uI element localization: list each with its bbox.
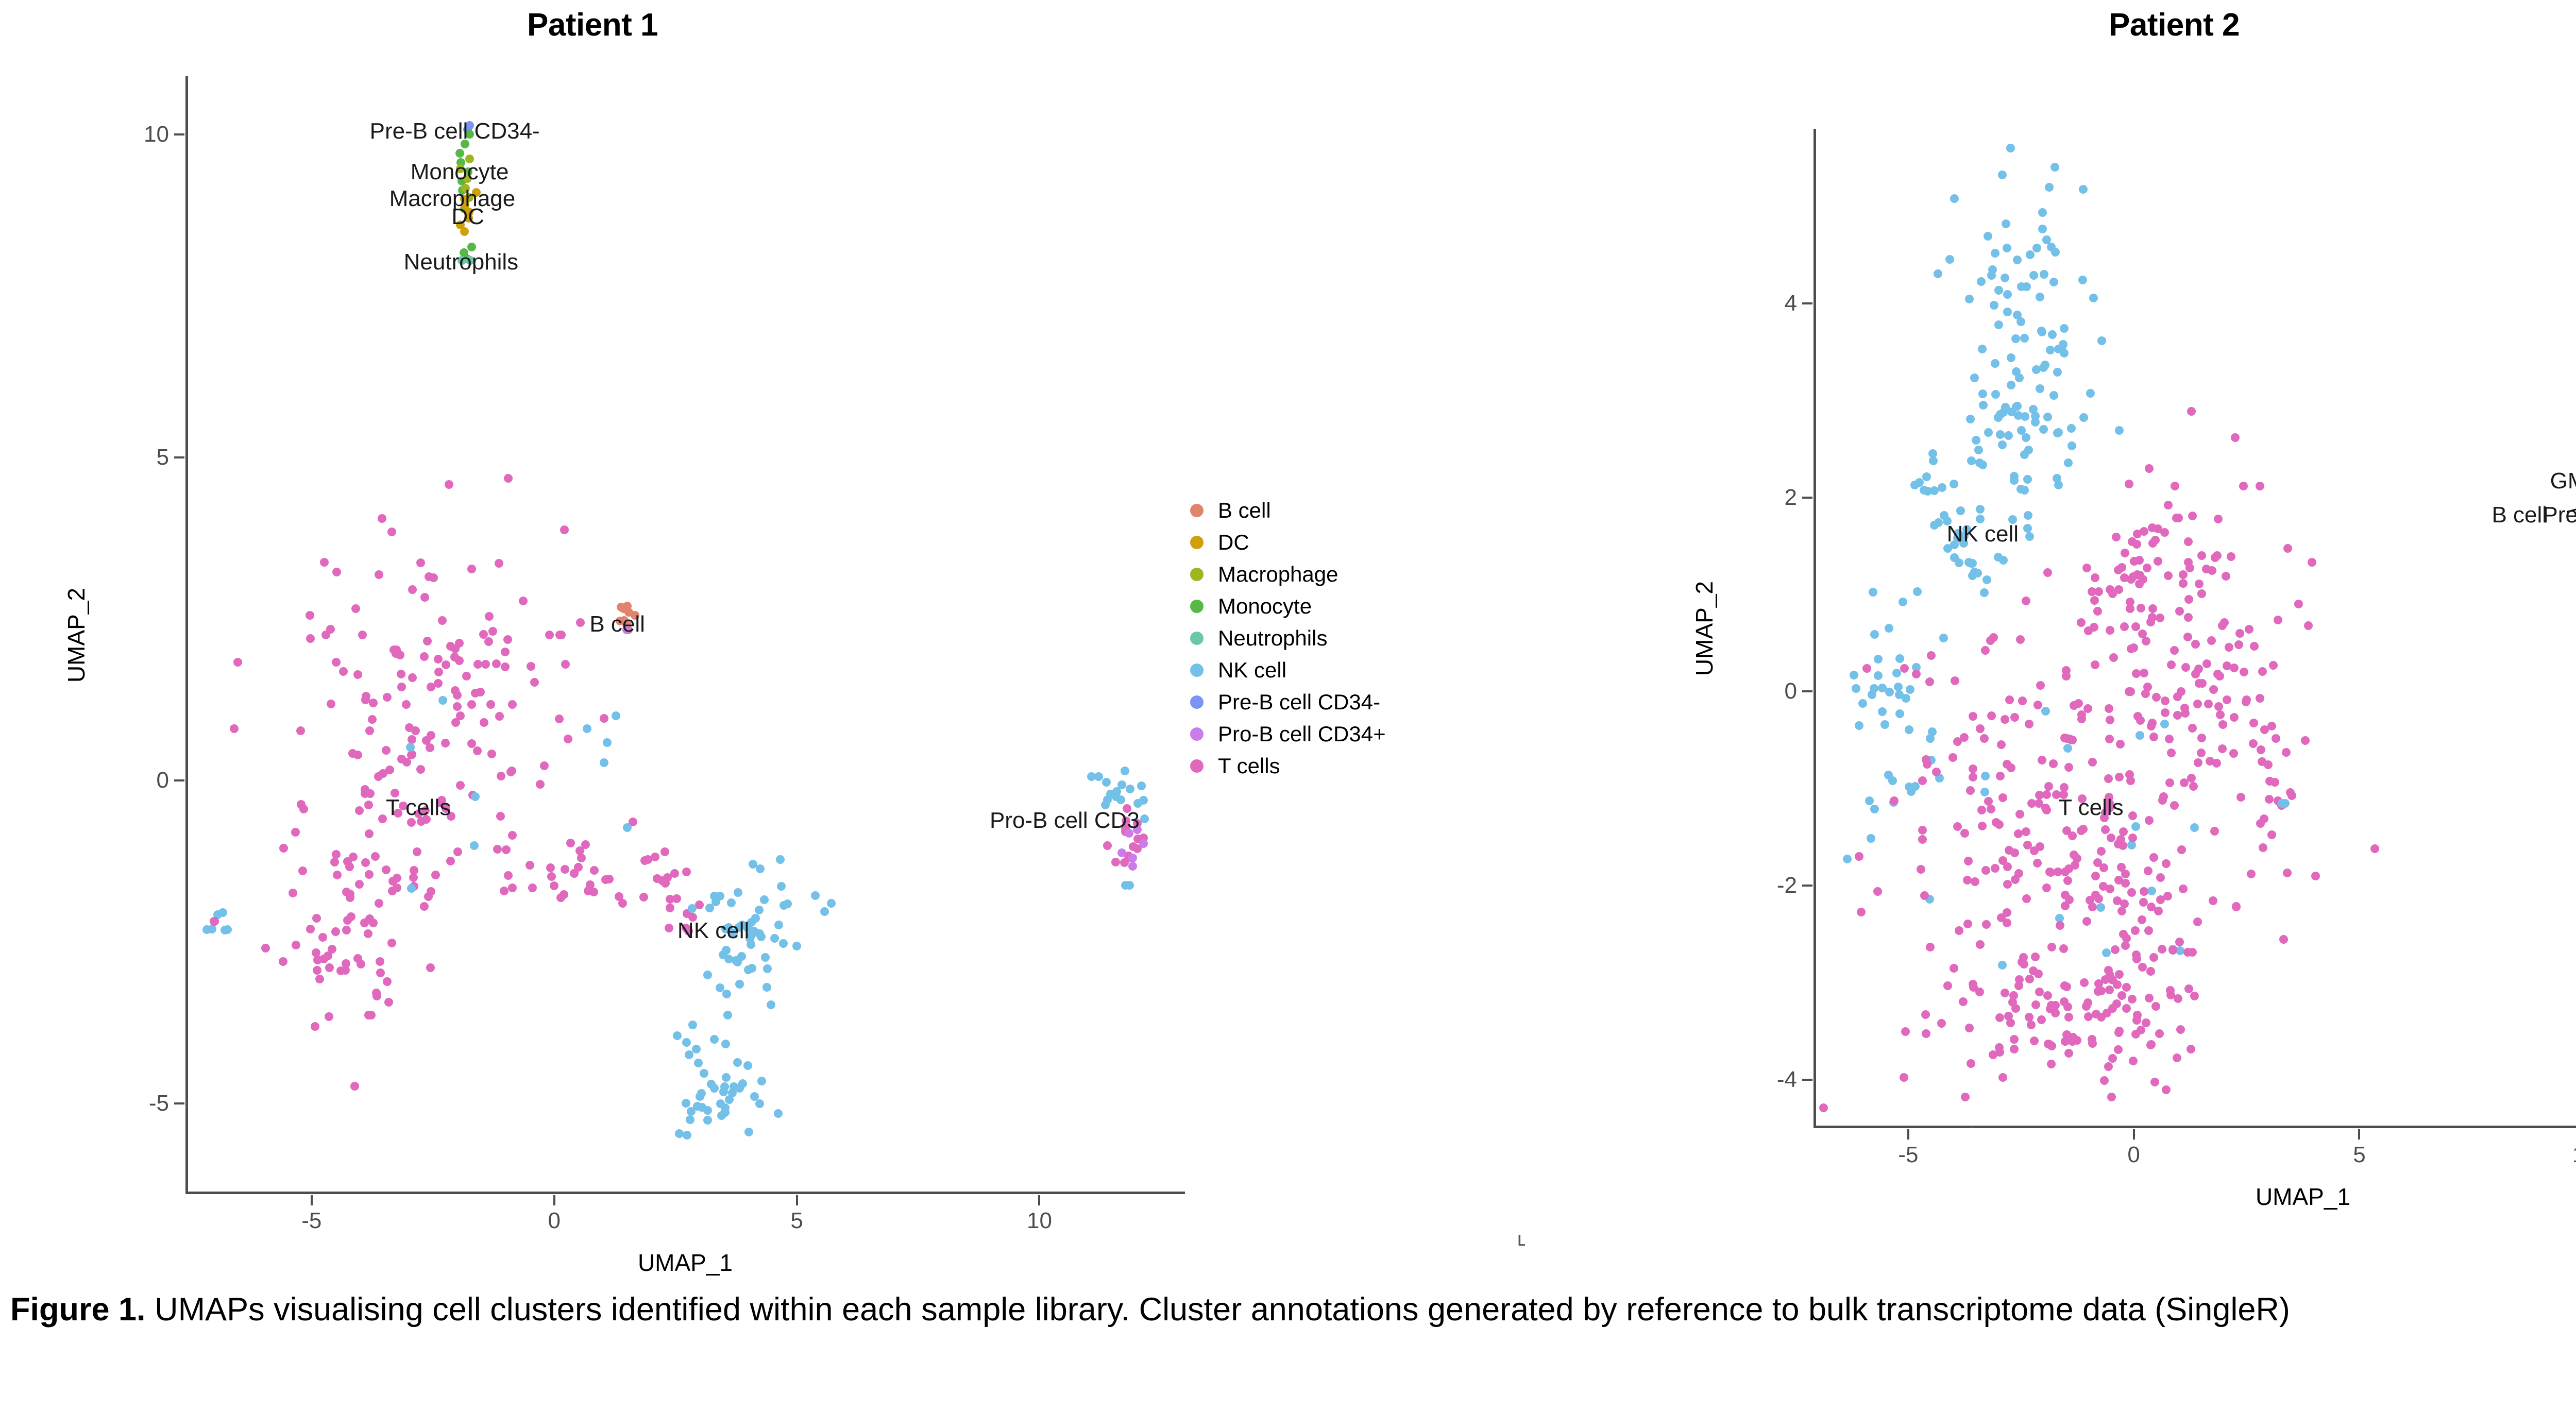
scatter-point [2059, 944, 2068, 953]
scatter-point [2163, 892, 2172, 900]
scatter-point [368, 715, 377, 724]
scatter-point [2136, 731, 2144, 740]
scatter-point [776, 855, 785, 864]
scatter-point [2155, 1029, 2164, 1038]
scatter-point [2064, 458, 2073, 467]
scatter-point [1950, 964, 1958, 973]
scatter-point [2001, 715, 2009, 724]
scatter-point [426, 963, 435, 972]
scatter-point [384, 998, 393, 1007]
scatter-point [467, 700, 476, 709]
y-tick-label: 0 [1785, 680, 1797, 703]
scatter-point [441, 739, 450, 747]
scatter-point [1862, 664, 1871, 673]
scatter-point [1930, 486, 1939, 495]
scatter-point [2184, 595, 2193, 604]
scatter-point [2027, 799, 2036, 808]
scatter-point [2161, 696, 2170, 705]
scatter-point [2064, 1013, 2073, 1022]
scatter-point [2184, 537, 2193, 546]
scatter-point [471, 792, 480, 801]
scatter-point [1955, 926, 1963, 935]
caption-label: Figure 1. [10, 1291, 146, 1328]
scatter-point [2189, 782, 2198, 791]
scatter-point [762, 983, 771, 992]
x-tick-mark [553, 1195, 555, 1205]
scatter-point [501, 662, 510, 671]
scatter-point [2030, 1036, 2039, 1045]
scatter-point [2179, 885, 2188, 893]
scatter-point [1991, 249, 1999, 258]
scatter-point [405, 723, 414, 732]
scatter-point [2045, 183, 2054, 192]
scatter-point [2208, 566, 2216, 575]
cluster-label: B cell [2492, 504, 2547, 526]
scatter-point [202, 925, 211, 934]
scatter-point [697, 1089, 706, 1098]
legend-item[interactable]: B cell [1190, 495, 1386, 526]
scatter-point [420, 902, 429, 911]
scatter-point [2304, 621, 2313, 630]
scatter-point [2121, 879, 2130, 888]
scatter-point [1923, 760, 1931, 769]
scatter-point [1976, 724, 1985, 733]
scatter-point [827, 899, 836, 908]
scatter-point [467, 565, 476, 573]
scatter-point [382, 746, 391, 755]
scatter-point [2049, 391, 2058, 400]
scatter-point [2010, 848, 2019, 857]
scatter-point [2022, 827, 2030, 836]
scatter-point [408, 585, 417, 594]
scatter-point [1129, 842, 1138, 851]
scatter-point [2128, 834, 2137, 842]
scatter-point [1905, 725, 1913, 734]
scatter-point [1870, 684, 1878, 693]
scatter-point [2025, 532, 2034, 541]
scatter-point [2036, 842, 2044, 851]
scatter-point [2090, 596, 2099, 605]
scatter-point [820, 907, 829, 916]
x-axis-title: UMAP_1 [2256, 1185, 2350, 1209]
scatter-point [2097, 1013, 2106, 1022]
scatter-point [2086, 389, 2095, 398]
scatter-point [2077, 618, 2086, 627]
scatter-point [583, 724, 591, 733]
scatter-point [744, 965, 753, 974]
scatter-point [1965, 295, 1974, 303]
scatter-point [508, 883, 517, 892]
scatter-point [577, 854, 586, 862]
scatter-point [2042, 790, 2051, 799]
y-tick-mark [1802, 497, 1812, 499]
scatter-point [320, 558, 329, 567]
y-tick-label: 5 [157, 446, 169, 469]
scatter-point [660, 847, 669, 856]
scatter-point [2016, 317, 2025, 326]
scatter-point [2071, 861, 2079, 870]
scatter-point [2090, 623, 2098, 632]
scatter-point [2019, 953, 2028, 962]
scatter-point [2041, 707, 2050, 716]
scatter-point [2002, 219, 2010, 228]
scatter-point [369, 919, 378, 927]
scatter-point [2088, 758, 2097, 767]
scatter-point [601, 875, 610, 884]
scatter-point [2094, 987, 2103, 996]
scatter-point [2042, 883, 2051, 892]
scatter-point [2091, 660, 2099, 669]
legend-item[interactable]: Monocyte [1190, 590, 1386, 622]
scatter-point [1934, 269, 1942, 278]
scatter-point [397, 683, 406, 691]
legend-item-label: Pre-B cell CD34- [1218, 691, 1380, 713]
scatter-point [299, 805, 308, 813]
scatter-point [666, 904, 674, 912]
scatter-point [1984, 232, 1992, 241]
scatter-point [2108, 1054, 2117, 1063]
legend-item[interactable]: Pre-B cell CD34- [1190, 686, 1386, 718]
scatter-point [2047, 1060, 2056, 1068]
scatter-point [1855, 721, 1863, 730]
scatter-point [2080, 978, 2089, 987]
scatter-point [2114, 1045, 2123, 1054]
scatter-point [2195, 580, 2204, 588]
scatter-point [2088, 903, 2097, 911]
scatter-point [1990, 301, 1998, 310]
scatter-point [1991, 359, 1999, 368]
scatter-point [342, 926, 351, 934]
scatter-point [2230, 713, 2239, 722]
scatter-point [353, 670, 362, 679]
scatter-point [2193, 700, 2202, 708]
x-tick-mark [1038, 1195, 1040, 1205]
scatter-point [2173, 692, 2182, 701]
scatter-point [2141, 689, 2150, 698]
scatter-point [2026, 250, 2035, 259]
legend-item[interactable]: Macrophage [1190, 558, 1386, 590]
scatter-point [1961, 1093, 1970, 1101]
scatter-point [1963, 876, 1972, 885]
scatter-point [1976, 940, 1985, 949]
cluster-label: NK cell [1947, 523, 2019, 546]
scatter-point [2301, 736, 2310, 745]
scatter-point [1998, 440, 2007, 449]
scatter-point [2016, 635, 2025, 644]
scatter-point [497, 772, 505, 780]
scatter-point [427, 731, 435, 740]
scatter-point [2149, 953, 2158, 962]
scatter-point [2138, 915, 2146, 924]
scatter-point [1906, 685, 1914, 694]
scatter-point [1980, 734, 1989, 743]
scatter-point [2256, 819, 2265, 828]
scatter-point [2029, 271, 2038, 280]
scatter-point [2121, 941, 2130, 950]
scatter-point [547, 872, 556, 881]
scatter-point [1929, 456, 1938, 465]
scatter-point [1998, 1073, 2007, 1082]
scatter-point [2007, 353, 2015, 362]
legend-item[interactable]: NK cell [1190, 654, 1386, 686]
scatter-point [556, 893, 565, 902]
scatter-point [1884, 771, 1893, 779]
scatter-point [2294, 600, 2303, 608]
scatter-point [727, 898, 736, 907]
legend-color-dot-icon [1190, 504, 1204, 517]
scatter-point [733, 1058, 742, 1067]
scatter-point [2111, 945, 2120, 954]
legend-item[interactable]: DC [1190, 526, 1386, 558]
scatter-point [1094, 772, 1103, 781]
scatter-point [2144, 866, 2153, 875]
scatter-point [442, 660, 450, 669]
scatter-point [508, 700, 517, 709]
scatter-point [2265, 795, 2274, 804]
scatter-point [496, 812, 505, 821]
scatter-point [2222, 572, 2230, 581]
scatter-point [495, 559, 503, 568]
scatter-point [2170, 646, 2179, 655]
scatter-point [2024, 511, 2032, 520]
scatter-point [493, 845, 502, 854]
scatter-point [770, 934, 779, 943]
scatter-point [1976, 505, 1985, 514]
scatter-point [2100, 1076, 2109, 1085]
scatter-point [1895, 654, 1904, 663]
scatter-point [2068, 1037, 2077, 1046]
scatter-point [306, 634, 315, 643]
scatter-point [811, 891, 820, 900]
scatter-point [1951, 676, 1959, 685]
scatter-point [1819, 1103, 1828, 1112]
scatter-point [1900, 1073, 1908, 1082]
scatter-point [1137, 781, 1146, 790]
legend-color-dot-icon [1190, 568, 1204, 581]
cluster-label: T cells [2058, 796, 2123, 819]
scatter-point [757, 1077, 766, 1085]
scatter-point [2022, 894, 2031, 903]
scatter-point [1857, 908, 1866, 916]
scatter-point [413, 847, 421, 856]
scatter-point [1878, 707, 1887, 716]
y-tick-label: -5 [149, 1092, 169, 1115]
scatter-point [2010, 1045, 2019, 1053]
scatter-point [407, 884, 416, 893]
scatter-point [1843, 855, 1852, 863]
scatter-point [2043, 568, 2052, 577]
scatter-point [2245, 625, 2253, 634]
scatter-point [2147, 1040, 2156, 1049]
scatter-point [365, 870, 374, 879]
y-tick-mark [1802, 690, 1812, 692]
scatter-point [2036, 681, 2045, 690]
scatter-point [332, 658, 341, 667]
scatter-point [2209, 685, 2218, 694]
scatter-point [2148, 539, 2157, 548]
scatter-point [692, 1045, 701, 1053]
scatter-point [1928, 727, 1937, 736]
scatter-point [434, 668, 443, 676]
scatter-point [2256, 482, 2264, 490]
scatter-point [2025, 720, 2033, 728]
scatter-point [707, 1080, 716, 1089]
scatter-point [445, 480, 453, 489]
scatter-point [500, 887, 509, 895]
scatter-point [331, 927, 340, 936]
scatter-point [2175, 938, 2184, 946]
legend-item[interactable]: Pro-B cell CD34+ [1190, 718, 1386, 750]
scatter-point [2067, 424, 2076, 433]
scatter-point [2154, 907, 2163, 915]
scatter-point [1973, 569, 1982, 577]
scatter-point [455, 149, 464, 158]
scatter-point [1873, 887, 1882, 896]
scatter-point [687, 1107, 696, 1116]
scatter-point [761, 953, 770, 962]
scatter-point [2082, 564, 2091, 572]
scatter-point [2064, 1049, 2073, 1058]
scatter-point [2256, 694, 2264, 703]
scatter-point [527, 662, 535, 671]
scatter-point [2210, 827, 2219, 836]
scatter-point [2146, 967, 2155, 976]
scatter-point [2036, 384, 2044, 393]
scatter-point [2022, 597, 2030, 605]
scatter-point [2267, 722, 2276, 730]
scatter-point [665, 924, 673, 932]
scatter-point [313, 956, 322, 964]
scatter-point [2024, 446, 2033, 454]
legend-item-label: Monocyte [1218, 596, 1312, 617]
scatter-point [2127, 888, 2136, 897]
cluster-label: DC [451, 206, 484, 228]
scatter-point [2056, 921, 2064, 930]
scatter-point [2137, 604, 2145, 613]
scatter-point [2014, 869, 2023, 878]
scatter-point [2125, 480, 2133, 488]
scatter-point [1975, 988, 1984, 996]
scatter-point [1945, 255, 1954, 264]
scatter-point [1967, 1059, 1975, 1068]
scatter-point [2114, 585, 2123, 594]
figure-root: Patient 1 Pre-B cell CD34-MonocyteMacrop… [0, 0, 2576, 1428]
legend-item[interactable]: T cells [1190, 750, 1386, 782]
scatter-point [1989, 1050, 1997, 1059]
scatter-point [1128, 862, 1137, 871]
scatter-point [473, 660, 482, 669]
scatter-point [2093, 858, 2102, 867]
scatter-point [2003, 308, 2012, 316]
scatter-point [503, 635, 512, 644]
scatter-point [1139, 839, 1148, 848]
scatter-point [484, 637, 493, 646]
scatter-point [561, 660, 570, 669]
scatter-point [2131, 622, 2140, 631]
y-tick-mark [1802, 1079, 1812, 1081]
scatter-point [2060, 324, 2069, 333]
scatter-point [1920, 891, 1929, 900]
scatter-point [221, 926, 229, 934]
scatter-point [700, 1069, 708, 1078]
scatter-point [574, 863, 583, 872]
scatter-point [2096, 903, 2105, 912]
scatter-point [383, 977, 392, 986]
scatter-point [1940, 511, 1948, 520]
plot-area-patient-2: NeutrophilsMonocyteMacrophageDCGMPB cell… [1814, 129, 2576, 1128]
scatter-point [2239, 482, 2248, 490]
scatter-point [566, 839, 575, 847]
scatter-point [1967, 456, 1976, 465]
scatter-point [2115, 426, 2124, 435]
scatter-point [347, 912, 355, 921]
x-tick-mark [311, 1195, 313, 1205]
scatter-point [1977, 277, 1986, 286]
scatter-point [2015, 975, 2024, 984]
scatter-point [2009, 991, 2018, 1000]
scatter-point [2038, 756, 2046, 764]
scatter-point [1855, 852, 1863, 861]
scatter-point [1121, 767, 1129, 775]
scatter-point [2165, 778, 2174, 787]
scatter-point [438, 616, 447, 625]
scatter-point [2225, 643, 2233, 652]
scatter-point [2234, 640, 2243, 649]
scatter-point [2145, 994, 2154, 1002]
legend-item[interactable]: Neutrophils [1190, 622, 1386, 654]
scatter-point [2129, 572, 2138, 581]
scatter-point [2083, 998, 2092, 1007]
scatter-point [2311, 872, 2320, 880]
scatter-point [2125, 687, 2133, 696]
scatter-point [504, 871, 513, 880]
x-tick-label: 0 [2127, 1144, 2140, 1166]
scatter-point [1980, 588, 1989, 597]
scatter-point [2117, 863, 2126, 872]
scatter-point [2091, 872, 2100, 880]
scatter-point [2106, 716, 2114, 724]
scatter-point [2117, 907, 2126, 915]
scatter-point [2106, 885, 2114, 893]
scatter-point [2094, 587, 2103, 596]
scatter-point [2102, 948, 2111, 957]
scatter-point [261, 944, 270, 953]
scatter-point [502, 845, 511, 854]
scatter-point [2236, 793, 2245, 802]
y-axis-title: UMAP_2 [64, 588, 88, 683]
scatter-point [576, 618, 585, 627]
scatter-point [661, 879, 670, 888]
scatter-point [470, 841, 479, 850]
scatter-point [2041, 361, 2049, 369]
scatter-point [2149, 853, 2158, 862]
scatter-point [2215, 672, 2224, 681]
scatter-point [2175, 607, 2184, 616]
scatter-point [1892, 669, 1901, 677]
scatter-point [2039, 425, 2048, 434]
scatter-point [1981, 866, 1990, 875]
scatter-point [1874, 655, 1883, 664]
scatter-point [312, 914, 321, 923]
scatter-point [431, 871, 440, 879]
scatter-point [2212, 759, 2221, 768]
scatter-point [387, 528, 396, 536]
scatter-point [2023, 524, 2032, 533]
scatter-point [306, 611, 314, 620]
scatter-point [1930, 521, 1939, 530]
scatter-point [2122, 1004, 2131, 1013]
stray-mark-glyph: ʟ [1517, 1229, 1526, 1249]
